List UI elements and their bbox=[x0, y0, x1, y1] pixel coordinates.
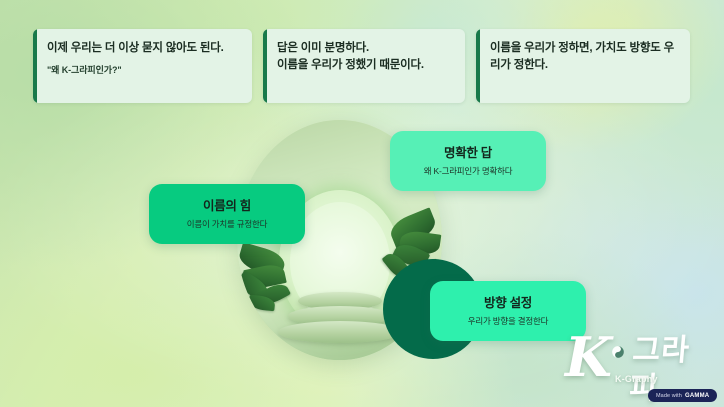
statement-main-text: 답은 이미 분명하다. 이름을 우리가 정했기 때문이다. bbox=[277, 40, 453, 73]
statement-box-1: 이제 우리는 더 이상 묻지 않아도 된다. "왜 K-그라피인가?" bbox=[33, 29, 252, 103]
statement-body: 이름을 우리가 정하면, 가치도 방향도 우리가 정한다. bbox=[476, 29, 690, 73]
card-direction-setting[interactable]: 방향 설정 우리가 방향을 결정한다 bbox=[430, 281, 586, 341]
statement-row: 이제 우리는 더 이상 묻지 않아도 된다. "왜 K-그라피인가?" 답은 이… bbox=[0, 0, 724, 115]
card-subtitle: 우리가 방향을 결정한다 bbox=[468, 316, 549, 326]
card-subtitle: 이름이 가치를 규정한다 bbox=[187, 219, 268, 229]
card-subtitle: 왜 K-그라피인가 명확하다 bbox=[424, 166, 513, 176]
card-name-power[interactable]: 이름의 힘 이름이 가치를 규정한다 bbox=[149, 184, 305, 244]
statement-box-3: 이름을 우리가 정하면, 가치도 방향도 우리가 정한다. bbox=[476, 29, 690, 103]
made-with-brand: GAMMA bbox=[685, 393, 709, 399]
statement-main-text: 이름을 우리가 정하면, 가치도 방향도 우리가 정한다. bbox=[490, 40, 678, 73]
card-clear-answer[interactable]: 명확한 답 왜 K-그라피인가 명확하다 bbox=[390, 131, 546, 191]
card-title: 방향 설정 bbox=[484, 296, 532, 311]
statement-sub-text: "왜 K-그라피인가?" bbox=[47, 63, 240, 76]
statement-body: 이제 우리는 더 이상 묻지 않아도 된다. "왜 K-그라피인가?" bbox=[33, 29, 252, 76]
statement-box-2: 답은 이미 분명하다. 이름을 우리가 정했기 때문이다. bbox=[263, 29, 465, 103]
made-with-badge[interactable]: Made with GAMMA bbox=[648, 389, 717, 402]
card-title: 이름의 힘 bbox=[203, 199, 251, 214]
made-with-label: Made with bbox=[656, 393, 682, 399]
presentation-slide: 이제 우리는 더 이상 묻지 않아도 된다. "왜 K-그라피인가?" 답은 이… bbox=[0, 0, 724, 407]
podium-tier-bottom bbox=[278, 321, 402, 343]
statement-main-text: 이제 우리는 더 이상 묻지 않아도 된다. bbox=[47, 40, 240, 57]
statement-body: 답은 이미 분명하다. 이름을 우리가 정했기 때문이다. bbox=[263, 29, 465, 73]
card-title: 명확한 답 bbox=[444, 146, 492, 161]
